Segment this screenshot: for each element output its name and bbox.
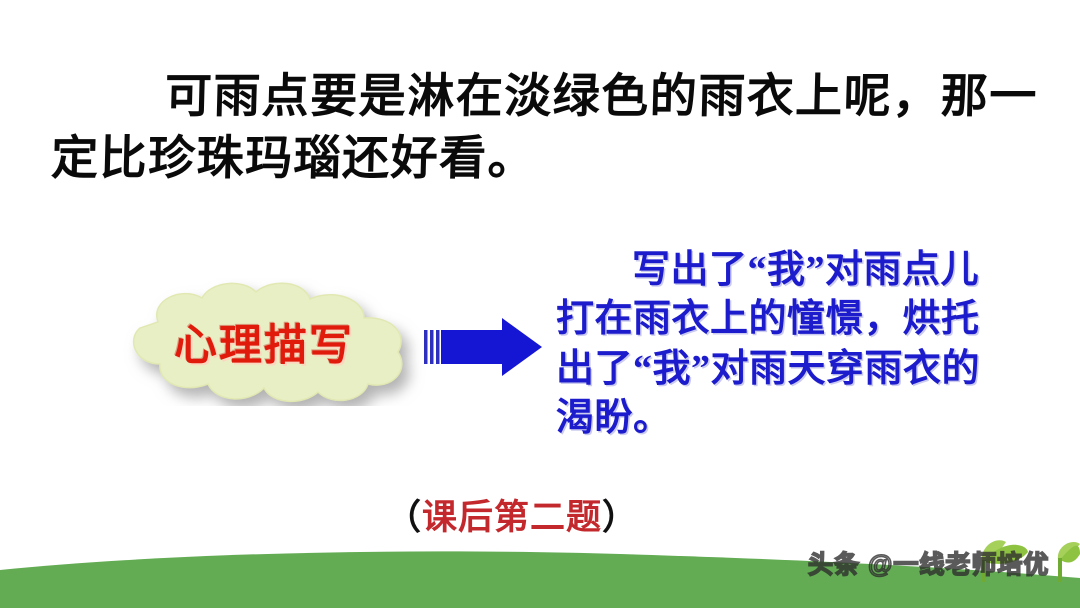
callout-label: 心理描写 — [96, 278, 426, 406]
arrow-right-icon — [424, 316, 544, 378]
footnote-open-paren: （ — [386, 498, 422, 537]
slide-canvas: 可雨点要是淋在淡绿色的雨衣上呢，那一定比珍珠玛瑙还好看。 心理描写 写出了“我”… — [0, 0, 1080, 608]
arrow-right-glyph — [424, 316, 544, 378]
cloud-callout[interactable]: 心理描写 — [96, 278, 426, 406]
explanation-text: 写出了“我”对雨点儿打在雨衣上的憧憬，烘托出了“我”对雨天穿雨衣的渴盼。 — [556, 246, 1008, 444]
watermark-text: 头条 @一线老师培优 — [808, 545, 1049, 581]
footnote-inner-text: 课后第二题 — [422, 498, 602, 537]
footnote: （课后第二题） — [386, 489, 638, 540]
footnote-close-paren: ） — [602, 498, 638, 537]
page-title: 可雨点要是淋在淡绿色的雨衣上呢，那一定比珍珠玛瑙还好看。 — [50, 66, 1043, 190]
